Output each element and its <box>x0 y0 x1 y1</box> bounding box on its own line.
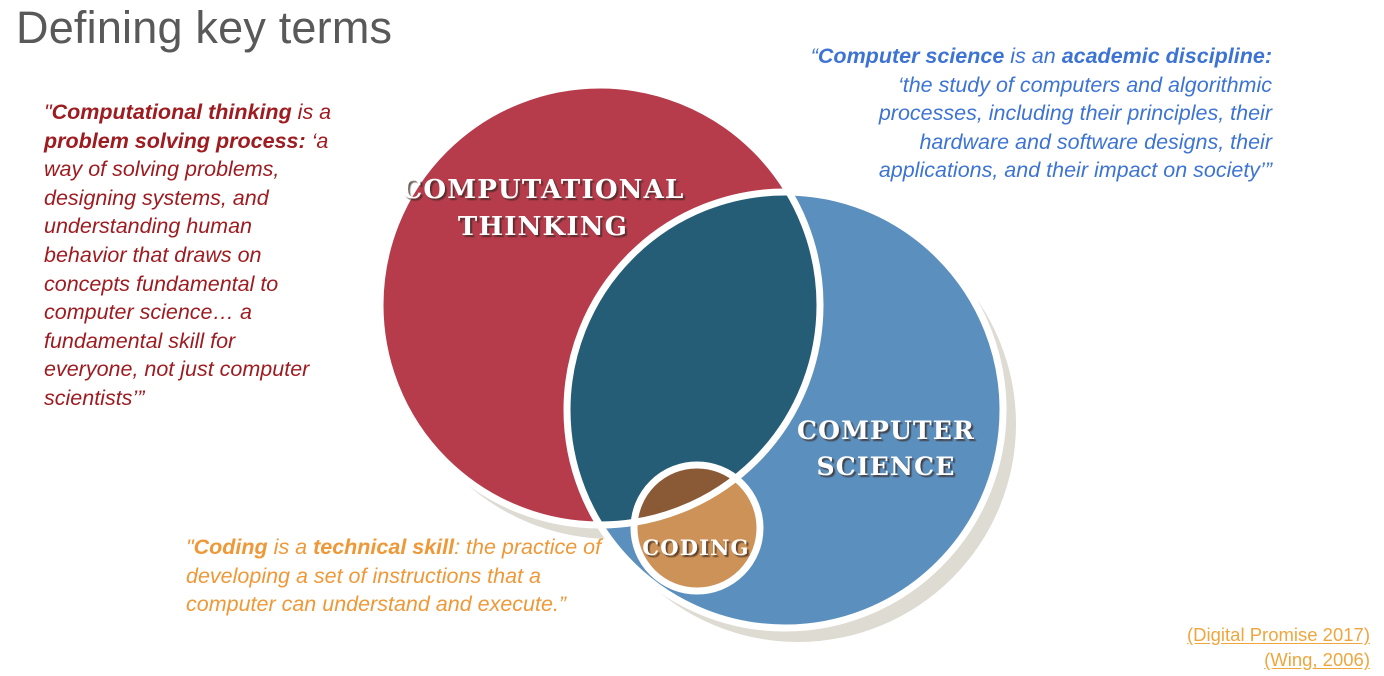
ct-label-line-2: THINKING <box>458 212 628 242</box>
quote-coding-bold-definition: technical skill <box>313 535 454 559</box>
quote-cs-plain-1: is an <box>1004 44 1061 68</box>
quote-ct-bold-definition: problem solving process: <box>44 129 306 153</box>
quote-computational-thinking: "Computational thinking is a problem sol… <box>44 98 332 413</box>
ct-label-line-1: COMPUTATIONAL <box>401 175 684 205</box>
quote-coding-plain-1: is a <box>268 535 313 559</box>
quote-cs-bold-definition: academic discipline: <box>1062 44 1272 68</box>
slide-canvas: Defining key terms <box>0 0 1384 676</box>
quote-cs-body: ‘the study of computers and algorithmic … <box>879 73 1272 183</box>
citation-link-digital-promise[interactable]: (Digital Promise 2017) <box>1187 622 1370 647</box>
quote-coding-open-quote: " <box>186 535 194 559</box>
quote-ct-bold-term: Computational thinking <box>52 100 292 124</box>
quote-cs-open-quote: “ <box>811 44 818 68</box>
quote-ct-plain-1: is a <box>292 100 331 124</box>
page-title: Defining key terms <box>16 2 392 54</box>
quote-cs-bold-term: Computer science <box>818 44 1004 68</box>
quote-coding: "Coding is a technical skill: the practi… <box>186 533 606 619</box>
quote-ct-body: ‘a way of solving problems, designing sy… <box>44 129 328 410</box>
citations: (Digital Promise 2017) (Wing, 2006) <box>1187 622 1370 672</box>
coding-label-line-1: CODING <box>642 535 749 560</box>
cs-label-line-2: SCIENCE <box>817 452 956 481</box>
citation-link-wing[interactable]: (Wing, 2006) <box>1187 647 1370 672</box>
quote-ct-open-quote: " <box>44 100 52 124</box>
quote-coding-bold-term: Coding <box>194 535 268 559</box>
quote-computer-science: “Computer science is an academic discipl… <box>800 42 1272 185</box>
coding-label: CODING <box>642 535 749 560</box>
cs-label-line-1: COMPUTER <box>797 416 975 445</box>
